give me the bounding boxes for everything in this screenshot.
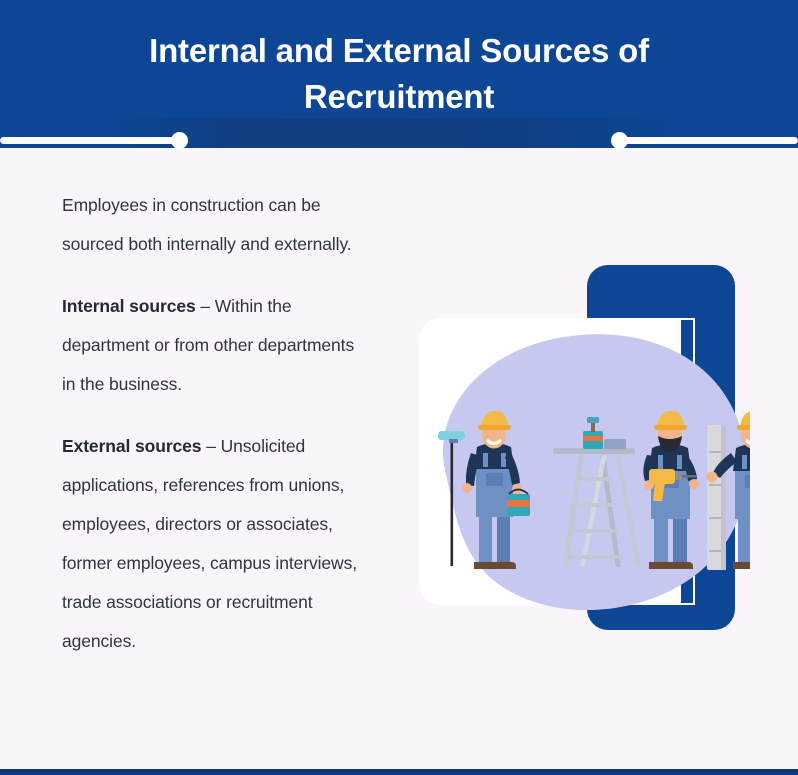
construction-workers-illustration (405, 255, 750, 645)
worker-with-toolbox (707, 411, 751, 569)
illustration-artwork-overlay (405, 255, 750, 645)
page-title: Internal and External Sources of Recruit… (0, 28, 798, 120)
external-sources-label: External sources (62, 436, 201, 456)
decor-line-left (0, 137, 181, 144)
worker3-strap-left (742, 455, 747, 469)
paragraph-intro: Employees in construction can be sourced… (62, 186, 362, 264)
body-text-column: Employees in construction can be sourced… (62, 186, 362, 661)
decor-dot-right (611, 132, 628, 149)
decor-line-right (618, 137, 798, 144)
footer-bar (0, 769, 798, 775)
worker3-helmet-brim (737, 425, 750, 430)
worker3-overalls-pocket (745, 475, 750, 488)
worker3-boot-left (733, 562, 750, 569)
worker3-leg-left (738, 511, 750, 567)
paragraph-external-sources: External sources – Unsolicited applicati… (62, 427, 362, 661)
external-sources-text: – Unsolicited applications, references f… (62, 436, 357, 651)
worker3-overalls (735, 465, 750, 519)
worker3-shirt (733, 444, 750, 471)
worker3-hand-left (707, 472, 718, 483)
header-banner: Internal and External Sources of Recruit… (0, 0, 798, 148)
worker3-helmet (740, 411, 750, 427)
internal-sources-label: Internal sources (62, 296, 196, 316)
paragraph-internal-sources: Internal sources – Within the department… (62, 287, 362, 404)
paragraph-intro-text: Employees in construction can be sourced… (62, 195, 352, 254)
header-sheen-gradient (110, 118, 670, 148)
worker3-smile (747, 441, 750, 444)
decor-dot-left (171, 132, 188, 149)
